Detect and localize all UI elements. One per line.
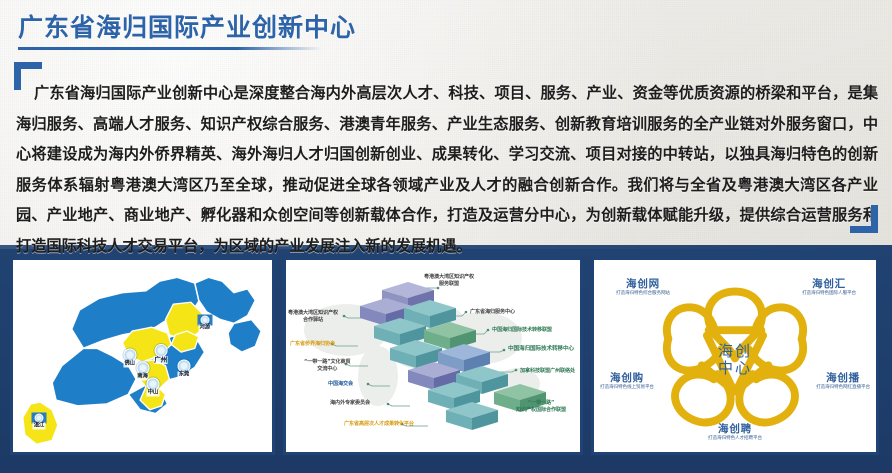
brand-node-haichuanghui[interactable]: 海创汇 打造海归特色国际人服平台 — [802, 278, 856, 297]
chain-label: 粤港澳大湾区知识产权服务联盟 — [424, 274, 474, 288]
chain-label: 中国海交会 — [328, 381, 353, 388]
panel-band: 广州 佛山 河源 东莞 — [0, 245, 892, 473]
chain-diagram-svg — [286, 260, 580, 452]
panel-map[interactable]: 广州 佛山 河源 东莞 — [10, 257, 275, 455]
brand-node-title: 海创汇 — [802, 278, 856, 290]
brand-node-subtitle: 打造海归特色线上贸易平台 — [600, 384, 654, 391]
panel-brand-system[interactable]: 海创中心 海创网 打造海归特色综合服务网站 海创汇 打造海归特色国际人服平台 海… — [591, 257, 879, 455]
brand-node-haichuangpin[interactable]: 海创聘 打造海归特色人才招聘平台 — [708, 423, 762, 442]
slide-root: 广东省海归国际产业创新中心 广东省海归国际产业创新中心是深度整合海内外高层次人才… — [0, 0, 892, 473]
panel-row: 广州 佛山 河源 东莞 — [0, 245, 892, 473]
brand-node-haichuangwang[interactable]: 海创网 打造海归特色综合服务网站 — [616, 278, 670, 297]
panel-platform-chain[interactable]: 粤港澳大湾区知识产权服务联盟 广东省海归服务中心 中国海归国际技术转移联盟 中国… — [283, 257, 583, 455]
brand-node-subtitle: 打造海归特色国际人服平台 — [802, 290, 856, 297]
corner-mark-bottom-right — [850, 205, 878, 233]
page-title: 广东省海归国际产业创新中心 — [18, 8, 356, 44]
chain-label: 广东省高层次人才成果转化平台 — [344, 421, 414, 428]
title-block: 广东省海归国际产业创新中心 — [18, 8, 356, 50]
brand-node-title: 海创播 — [816, 372, 870, 384]
chain-label: 加拿科技联盟广州联络处 — [520, 368, 575, 375]
chain-label: 中国海归国际技术转移中心 — [508, 346, 574, 353]
brand-node-title: 海创购 — [600, 372, 654, 384]
brand-node-title: 海创网 — [616, 278, 670, 290]
brand-node-haichuanggou[interactable]: 海创购 打造海归特色线上贸易平台 — [600, 372, 654, 391]
chain-label: 广东省侨界海归协会 — [290, 341, 335, 348]
title-underline — [18, 47, 322, 50]
map-canvas: 广州 佛山 河源 东莞 — [13, 260, 272, 452]
brand-node-subtitle: 打造海归特色网红直播平台 — [816, 384, 870, 391]
corner-mark-top-left — [14, 62, 42, 90]
chain-canvas: 粤港澳大湾区知识产权服务联盟 广东省海归服务中心 中国海归国际技术转移联盟 中国… — [286, 260, 580, 452]
chain-label: 广东省海归服务中心 — [470, 309, 515, 316]
intro-paragraph: 广东省海归国际产业创新中心是深度整合海内外高层次人才、科技、项目、服务、产业、资… — [16, 78, 878, 261]
chain-label: 海内外专家委员会 — [330, 400, 370, 407]
chain-label: 粤港澳大湾区知识产权合作驿站 — [288, 310, 338, 324]
brand-node-title: 海创聘 — [708, 423, 762, 435]
guangdong-map-svg — [13, 260, 272, 452]
chain-label: “一带一路”文化商贸交流中心 — [304, 359, 350, 373]
brand-node-subtitle: 打造海归特色人才招聘平台 — [708, 435, 762, 442]
logo-canvas: 海创中心 海创网 打造海归特色综合服务网站 海创汇 打造海归特色国际人服平台 海… — [594, 260, 876, 452]
brand-node-subtitle: 打造海归特色综合服务网站 — [616, 290, 670, 297]
logo-center-text: 海创中心 — [718, 343, 752, 377]
brand-node-haichuangbo[interactable]: 海创播 打造海归特色网红直播平台 — [816, 372, 870, 391]
chain-label: “一带一路”知识产权国际合作联盟 — [516, 400, 566, 414]
chain-label: 中国海归国际技术转移联盟 — [492, 327, 552, 334]
